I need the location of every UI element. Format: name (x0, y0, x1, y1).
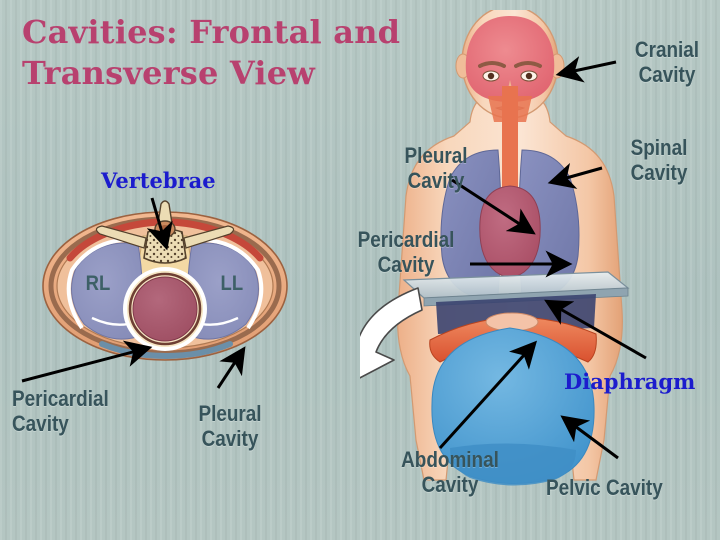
pleural-cavity-label-transverse: Pleural Cavity (189, 402, 272, 451)
heart-cross-section (133, 277, 197, 341)
diaphragm-label: Diaphragm (564, 369, 695, 394)
spinal-cavity-label: Spinal Cavity (613, 136, 704, 185)
transverse-section-diagram (40, 196, 290, 376)
pericardial-cavity-label-frontal: Pericardial Cavity (346, 228, 466, 277)
heart (480, 186, 540, 277)
cranial-cavity-label: Cranial Cavity (621, 38, 712, 87)
right-lung-label: RL (86, 272, 111, 296)
pericardial-cavity-label-transverse: Pericardial Cavity (12, 387, 109, 436)
cranial-spinal-junction (488, 96, 532, 122)
spinal-cord (160, 225, 170, 233)
left-lung-label: LL (221, 272, 244, 296)
vertebrae-label: Vertebrae (101, 168, 216, 193)
pupil-right (488, 73, 494, 79)
pleural-cavity-label-frontal: Pleural Cavity (391, 144, 480, 193)
abdominal-cavity-label: Abdominal Cavity (397, 448, 504, 497)
slide-canvas: Cavities: Frontal and Transverse View (0, 0, 720, 540)
pelvic-cavity-label: Pelvic Cavity (546, 476, 663, 501)
pupil-left (526, 73, 532, 79)
